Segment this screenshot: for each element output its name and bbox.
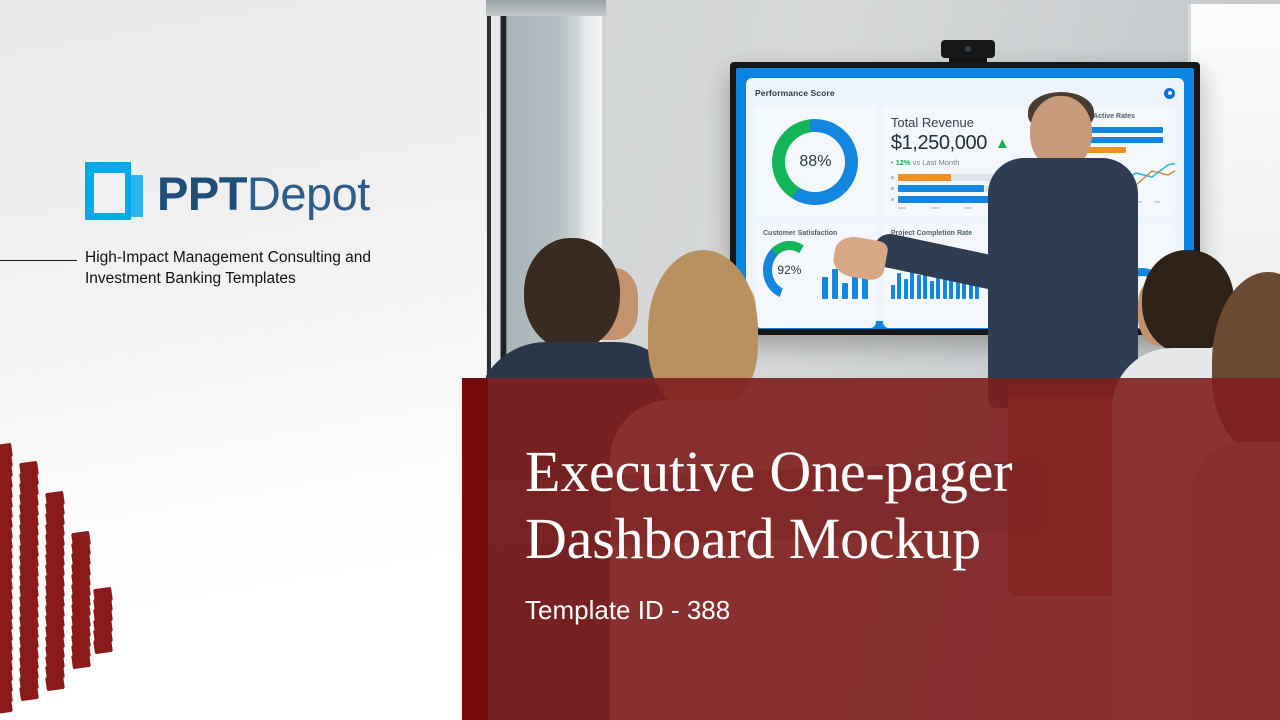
title-banner-left-edge: [462, 378, 488, 720]
card-performance-score[interactable]: 88%: [755, 106, 876, 216]
arrow-up-icon: ▲: [995, 135, 1009, 152]
decorative-dash: [0, 698, 13, 714]
delta-value: 12%: [896, 158, 911, 167]
webcam-icon: [941, 40, 995, 58]
tagline-row: High-Impact Management Consulting and In…: [85, 248, 485, 290]
decorative-dash: [71, 653, 91, 669]
brand-name-light: Depot: [247, 167, 370, 220]
slide-title-line2: Dashboard Mockup: [525, 505, 1225, 572]
bar-tick-icon: [891, 176, 894, 179]
brand-tagline: High-Impact Management Consulting and In…: [85, 248, 440, 290]
performance-donut-chart: 88%: [772, 119, 858, 205]
brand-wordmark: PPTDepot: [157, 170, 370, 217]
performance-donut-value: 88%: [772, 119, 858, 205]
decorative-dash: [19, 685, 39, 701]
left-brand-panel: PPTDepot High-Impact Management Consulti…: [0, 0, 487, 720]
ppt-depot-logo-mark-icon: [85, 162, 143, 224]
slide-title-line1: Executive One-pager: [525, 438, 1225, 505]
decorative-dash: [45, 674, 65, 690]
ceiling-trim: [486, 0, 606, 16]
title-banner: Executive One-pager Dashboard Mockup Tem…: [462, 378, 1280, 720]
decorative-dash-pattern: [0, 440, 124, 720]
title-banner-content: Executive One-pager Dashboard Mockup Tem…: [525, 438, 1225, 626]
slide-title: Executive One-pager Dashboard Mockup: [525, 438, 1225, 573]
template-id-subtitle: Template ID - 388: [525, 595, 1225, 626]
bar-tick-icon: [891, 187, 894, 190]
total-revenue-amount: $1,250,000: [891, 132, 987, 155]
dashboard-title: Performance Score: [755, 88, 835, 98]
decorative-dash: [93, 638, 113, 654]
slide-root: PPTDepot High-Impact Management Consulti…: [0, 0, 1280, 720]
webcam-lens-icon: [965, 46, 971, 52]
satisfaction-gauge-chart: 92%: [763, 241, 816, 299]
total-revenue-label: Total Revenue: [891, 115, 1037, 130]
delta-suffix: vs Last Month: [913, 158, 960, 167]
brand-name-bold: PPT: [157, 167, 247, 220]
attendee-hair: [524, 238, 620, 350]
tagline-rule: [0, 260, 77, 261]
dashboard-header: Performance Score: [755, 85, 1175, 101]
logo-row: PPTDepot: [85, 160, 485, 226]
logo-square-cutout: [94, 173, 125, 213]
settings-dot-icon[interactable]: [1164, 88, 1175, 99]
brand-block: PPTDepot High-Impact Management Consulti…: [85, 160, 485, 226]
satisfaction-value: 92%: [763, 241, 816, 299]
bar-tick-icon: [891, 198, 894, 201]
